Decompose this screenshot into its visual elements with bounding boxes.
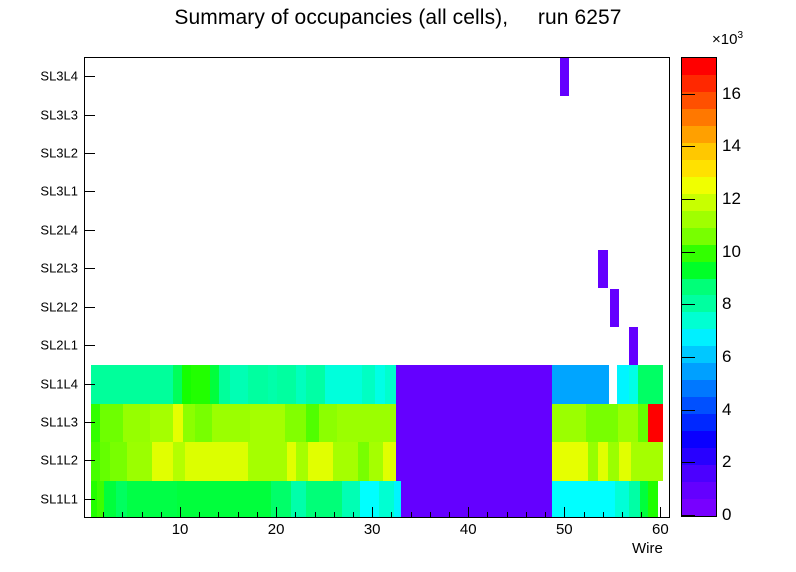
heatmap-cell — [609, 365, 618, 403]
page-title: Summary of occupancies (all cells), run … — [0, 6, 796, 30]
heatmap-cell — [219, 365, 230, 403]
colorbar-band — [682, 57, 716, 75]
heatmap-cell — [127, 481, 177, 517]
heatmap-cell — [319, 404, 336, 442]
colorbar-tick — [681, 357, 695, 358]
heatmap-cell — [306, 481, 343, 517]
heatmap-cell — [375, 365, 385, 403]
colorbar-multiplier-base: ×10 — [712, 31, 737, 48]
x-axis-minor-tick — [603, 512, 604, 518]
y-axis-tick-label: SL3L4 — [0, 69, 78, 84]
heatmap-cell — [127, 442, 152, 480]
x-axis-major-tick — [660, 507, 661, 518]
heatmap-cell — [631, 442, 664, 480]
x-axis-tick-label: 40 — [460, 521, 477, 538]
x-axis-major-tick — [372, 507, 373, 518]
heatmap-cell — [248, 442, 286, 480]
colorbar-tick-label: 2 — [722, 452, 731, 472]
y-axis-tick-label: SL2L1 — [0, 338, 78, 353]
colorbar-band — [682, 363, 716, 381]
y-axis-tick-label: SL3L2 — [0, 146, 78, 161]
x-axis-minor-tick — [507, 512, 508, 518]
heatmap-cell — [552, 442, 589, 480]
heatmap-cell — [291, 481, 306, 517]
heatmap-cell — [100, 404, 123, 442]
x-axis-major-tick — [276, 507, 277, 518]
x-axis-minor-tick — [584, 512, 585, 518]
heatmap-cell — [325, 365, 362, 403]
colorbar-band — [682, 159, 716, 177]
heatmap-cell — [91, 404, 101, 442]
heatmap-cell — [638, 404, 648, 442]
colorbar-band — [682, 142, 716, 160]
y-axis-tick-label: SL1L3 — [0, 414, 78, 429]
colorbar-tick-label: 8 — [722, 294, 731, 314]
heatmap-cell — [608, 442, 620, 480]
colorbar-band — [682, 498, 716, 516]
x-axis-tick-label: 20 — [268, 521, 285, 538]
colorbar-tick — [681, 146, 695, 147]
x-axis-minor-tick — [411, 512, 412, 518]
heatmap-cell — [173, 442, 185, 480]
x-axis-minor-tick — [161, 512, 162, 518]
plot-frame — [84, 57, 670, 518]
colorbar-band — [682, 431, 716, 449]
x-axis-minor-tick — [142, 512, 143, 518]
heatmap-cell — [195, 404, 212, 442]
heatmap-cell — [362, 365, 375, 403]
heatmap-cell — [183, 404, 195, 442]
y-axis-tick-label: SL1L4 — [0, 376, 78, 391]
x-axis-minor-tick — [449, 512, 450, 518]
y-axis-tick — [84, 460, 95, 461]
heatmap-cell — [588, 442, 598, 480]
heatmap-cell — [586, 404, 618, 442]
heatmap-cell — [110, 442, 127, 480]
heatmap-cell — [396, 442, 552, 480]
x-axis-minor-tick — [199, 512, 200, 518]
colorbar-band — [682, 108, 716, 126]
colorbar-band — [682, 210, 716, 228]
heatmap-cell — [212, 404, 250, 442]
x-axis-minor-tick — [218, 512, 219, 518]
colorbar-tick-label: 16 — [722, 84, 741, 104]
x-axis-minor-tick — [622, 512, 623, 518]
colorbar-tick-label: 6 — [722, 347, 731, 367]
colorbar-tick-label: 0 — [722, 505, 731, 525]
colorbar-band — [682, 397, 716, 415]
colorbar-multiplier-label: ×103 — [712, 30, 743, 48]
heatmap-cell — [337, 404, 397, 442]
x-axis-minor-tick — [545, 512, 546, 518]
heatmap-cell — [306, 365, 325, 403]
y-axis-tick-label: SL1L2 — [0, 453, 78, 468]
colorbar-tick — [681, 199, 695, 200]
heatmap-cell — [552, 404, 587, 442]
y-axis-tick-label: SL3L1 — [0, 184, 78, 199]
heatmap-cell — [648, 481, 658, 517]
heatmap-cell — [342, 481, 359, 517]
y-axis-tick — [84, 384, 95, 385]
colorbar-multiplier-exponent: 3 — [737, 30, 743, 41]
colorbar-tick — [681, 410, 695, 411]
x-axis-major-tick — [468, 507, 469, 518]
heatmap-cell — [173, 365, 182, 403]
colorbar-band — [682, 227, 716, 245]
colorbar-tick-label: 10 — [722, 242, 741, 262]
x-axis-minor-tick — [353, 512, 354, 518]
heatmap-cell — [629, 327, 639, 365]
colorbar-band — [682, 414, 716, 432]
heatmap-cell — [123, 404, 150, 442]
x-axis-minor-tick — [315, 512, 316, 518]
heatmap-cell — [617, 365, 629, 403]
heatmap-cell — [91, 365, 174, 403]
colorbar-band — [682, 329, 716, 347]
x-axis-minor-tick — [487, 512, 488, 518]
x-axis-title-label: Wire — [632, 540, 663, 557]
x-axis-minor-tick — [257, 512, 258, 518]
heatmap-cell — [182, 365, 191, 403]
colorbar-band — [682, 244, 716, 262]
colorbar-tick — [681, 462, 695, 463]
heatmap-cell — [271, 481, 290, 517]
x-axis-tick-label: 50 — [556, 521, 573, 538]
heatmap-cell — [191, 365, 210, 403]
y-axis-tick — [84, 115, 95, 116]
x-axis-tick-label: 60 — [652, 521, 669, 538]
heatmap-cell — [248, 365, 267, 403]
x-axis-minor-tick — [238, 512, 239, 518]
x-axis-minor-tick — [122, 512, 123, 518]
colorbar-band — [682, 346, 716, 364]
colorbar-band — [682, 481, 716, 499]
x-axis-minor-tick — [295, 512, 296, 518]
heatmap-cell — [394, 481, 401, 517]
heatmap-cell — [152, 442, 173, 480]
heatmap-cell — [629, 365, 639, 403]
heatmap-cell — [638, 365, 663, 403]
heatmap-cell — [306, 404, 319, 442]
heatmap-cell — [396, 365, 552, 403]
y-axis-tick-label: SL1L1 — [0, 491, 78, 506]
y-axis-tick — [84, 76, 95, 77]
heatmap-cell — [369, 442, 382, 480]
x-axis-minor-tick — [103, 512, 104, 518]
x-axis-minor-tick — [334, 512, 335, 518]
heatmap-cell — [385, 365, 397, 403]
heatmap-cell — [230, 365, 248, 403]
y-axis-tick — [84, 307, 95, 308]
heatmap-cell — [560, 58, 570, 96]
heatmap-cell — [308, 442, 333, 480]
y-axis-tick-label: SL2L3 — [0, 261, 78, 276]
heatmap-cell — [648, 404, 663, 442]
heatmap-cell — [150, 404, 173, 442]
heatmap-cell — [185, 442, 248, 480]
colorbar-tick-label: 14 — [722, 136, 741, 156]
x-axis-tick-label: 10 — [172, 521, 189, 538]
colorbar-band — [682, 278, 716, 296]
y-axis-tick — [84, 191, 95, 192]
colorbar-band — [682, 176, 716, 194]
heatmap-cell — [629, 481, 641, 517]
heatmap-cell — [333, 442, 358, 480]
x-axis-major-tick — [564, 507, 565, 518]
heatmap-cell — [173, 404, 183, 442]
heatmap-cell — [277, 365, 296, 403]
heatmap-cell — [598, 250, 608, 288]
heatmap-cell — [401, 481, 552, 517]
colorbar-tick — [681, 304, 695, 305]
heatmap-cell — [360, 481, 379, 517]
heatmap-cell — [383, 442, 396, 480]
root-canvas: Summary of occupancies (all cells), run … — [0, 0, 796, 572]
heatmap-cell — [100, 442, 110, 480]
heatmap-cell — [104, 481, 116, 517]
colorbar-tick-label: 12 — [722, 189, 741, 209]
heatmap-cell — [250, 404, 285, 442]
colorbar-band — [682, 312, 716, 330]
heatmap-cell — [210, 365, 220, 403]
y-axis-tick — [84, 345, 95, 346]
heatmap-cell — [268, 365, 278, 403]
x-axis-minor-tick — [641, 512, 642, 518]
y-axis-tick — [84, 499, 95, 500]
y-axis-tick — [84, 268, 95, 269]
colorbar-band — [682, 193, 716, 211]
x-axis-major-tick — [180, 507, 181, 518]
colorbar-band — [682, 261, 716, 279]
colorbar-band — [682, 74, 716, 92]
colorbar-band — [682, 465, 716, 483]
y-axis-tick-label: SL3L3 — [0, 107, 78, 122]
x-axis-minor-tick — [430, 512, 431, 518]
y-axis-tick-label: SL2L4 — [0, 222, 78, 237]
y-axis-tick-label: SL2L2 — [0, 299, 78, 314]
heatmap-cell — [296, 365, 306, 403]
x-axis-minor-tick — [391, 512, 392, 518]
heatmap-cell — [610, 289, 620, 327]
y-axis-tick — [84, 230, 95, 231]
heatmap-cell — [552, 365, 609, 403]
colorbar-band — [682, 380, 716, 398]
y-axis-tick — [84, 422, 95, 423]
colorbar-tick — [681, 252, 695, 253]
heatmap-cell — [598, 442, 608, 480]
heatmap-cell — [296, 442, 308, 480]
heatmap-cell — [396, 404, 552, 442]
heatmap-cell — [619, 442, 631, 480]
x-axis-tick-label: 30 — [364, 521, 381, 538]
heatmap-cell — [285, 404, 306, 442]
colorbar — [681, 57, 717, 517]
colorbar-tick-label: 4 — [722, 400, 731, 420]
heatmap-cell — [618, 404, 638, 442]
heatmap-cell — [358, 442, 370, 480]
y-axis-tick — [84, 153, 95, 154]
colorbar-tick — [681, 515, 695, 516]
colorbar-band — [682, 125, 716, 143]
heatmap-cells — [85, 58, 669, 517]
heatmap-cell — [287, 442, 297, 480]
x-axis-minor-tick — [526, 512, 527, 518]
colorbar-tick — [681, 94, 695, 95]
